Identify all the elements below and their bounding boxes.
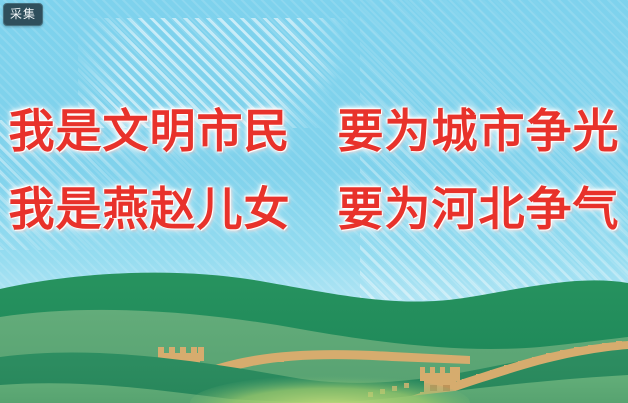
capture-button[interactable]: 采集 [3, 3, 43, 26]
hills-landscape [0, 253, 628, 403]
great-wall-watermark [78, 18, 348, 128]
great-wall-watermark-left [0, 120, 200, 250]
banner-image: 我是文明市民 要为城市争光 我是燕赵儿女 要为河北争气 采集 [0, 0, 628, 403]
